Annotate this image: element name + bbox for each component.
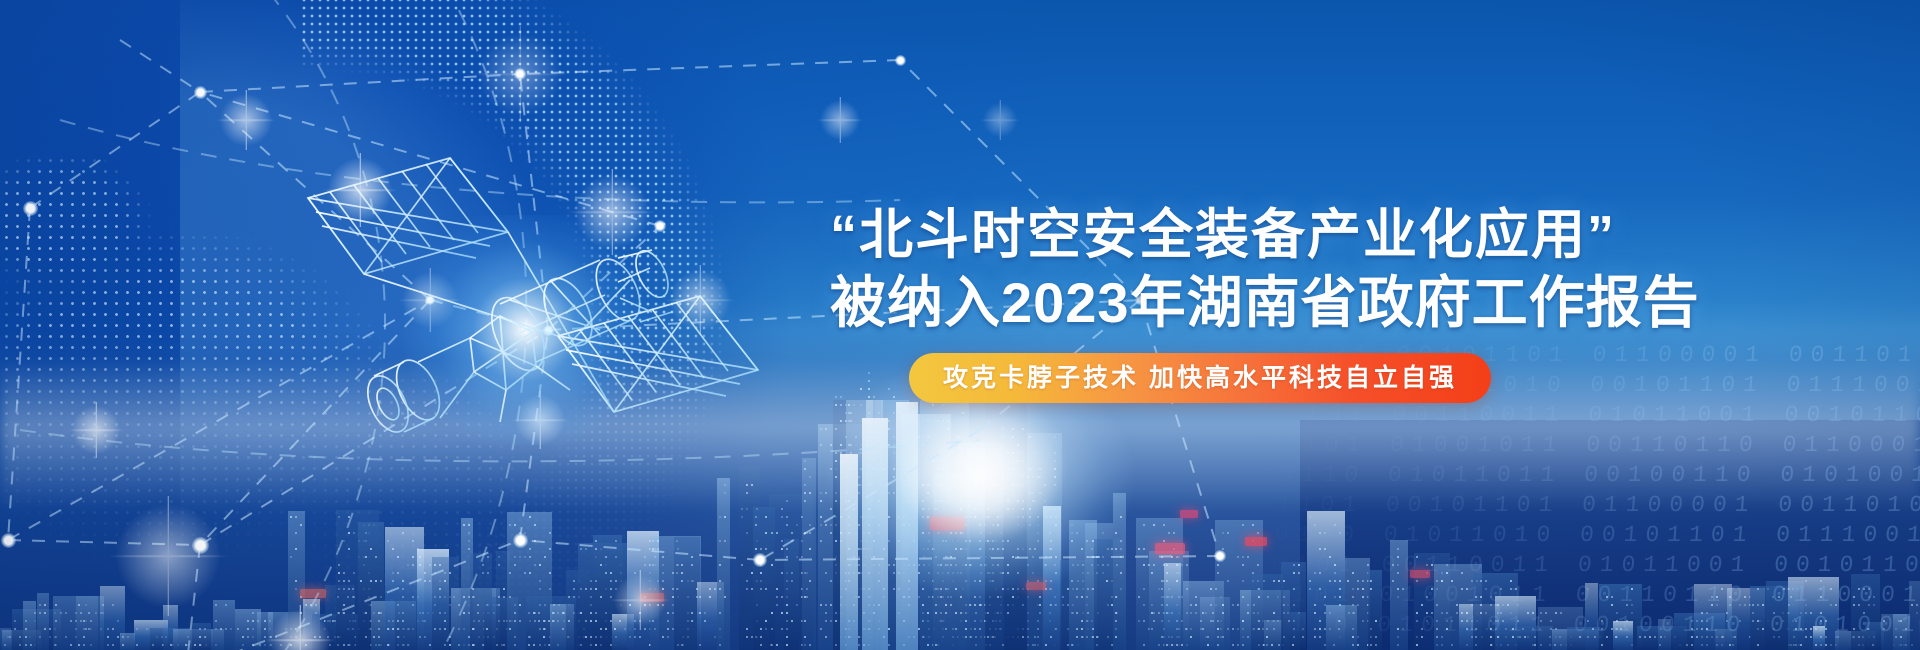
headline-line-2: 被纳入2023年湖南省政府工作报告 xyxy=(830,273,1570,333)
headline-block: “北斗时空安全装备产业化应用” 被纳入2023年湖南省政府工作报告 攻克卡脖子技… xyxy=(830,205,1570,403)
badge-row: 攻克卡脖子技术 加快高水平科技自立自强 xyxy=(830,353,1570,403)
slogan-badge[interactable]: 攻克卡脖子技术 加快高水平科技自立自强 xyxy=(909,353,1491,403)
headline-line-1: “北斗时空安全装备产业化应用” xyxy=(830,205,1570,265)
banner-root: 01001101 00101101 01100001 00110101 0100… xyxy=(0,0,1920,650)
